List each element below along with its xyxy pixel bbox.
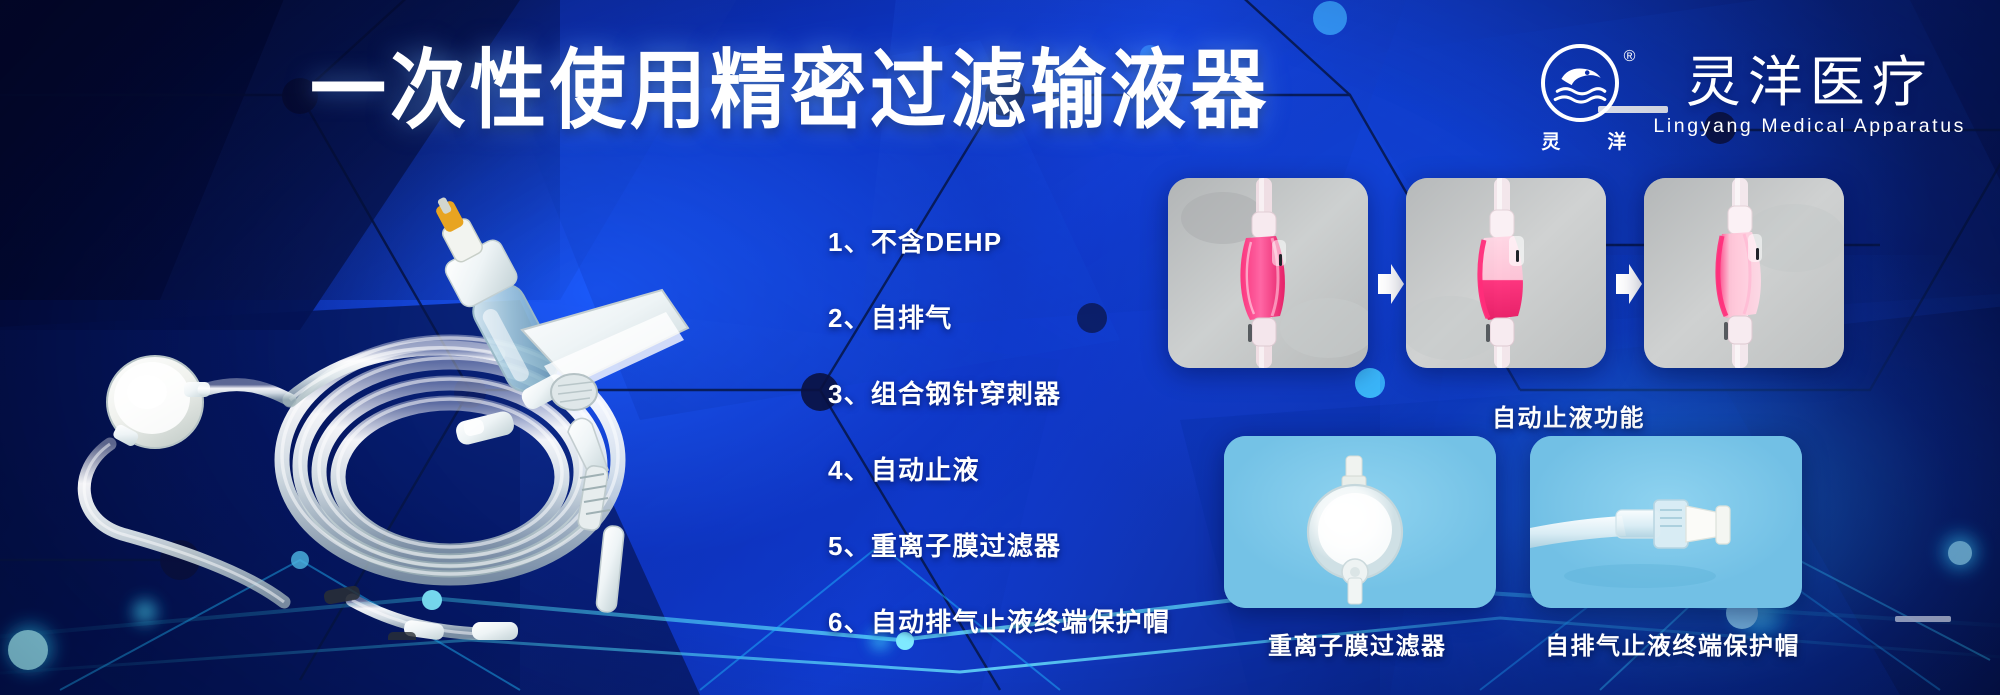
bottom-connector-part [323, 585, 518, 640]
injection-site-part [454, 409, 516, 446]
brand-text: 灵洋医疗 Lingyang Medical Apparatus [1653, 54, 1966, 139]
detail-photo-cap [1530, 436, 1802, 608]
brand-logo: ® 灵 洋 灵洋医疗 Lingyang Medical Apparatus [1541, 44, 1966, 148]
feature-item: 2、自排气 [828, 298, 1198, 335]
logo-mark-label: 灵 洋 [1541, 127, 1627, 154]
round-filter-part [107, 356, 210, 448]
detail-photo-filter [1224, 436, 1496, 608]
logo-mark: ® 灵 洋 [1541, 44, 1633, 148]
hero-product-image [52, 170, 812, 640]
logo-mark-label-left: 灵 [1541, 127, 1561, 154]
feature-item: 1、不含DEHP [828, 222, 1198, 259]
arrow-right-icon [1378, 262, 1404, 306]
wave-fish-icon [1547, 50, 1613, 116]
feature-list: 1、不含DEHP 2、自排气 3、组合钢针穿刺器 4、自动止液 5、重离子膜过滤… [828, 222, 1198, 639]
sequence-photo-2 [1406, 178, 1606, 368]
arrow-right-glyph [1378, 262, 1404, 306]
sequence-caption: 自动止液功能 [1492, 398, 1645, 433]
drip-chamber-full-photo [1168, 178, 1368, 368]
drip-chamber-draining-photo [1406, 178, 1606, 368]
registered-trademark-icon: ® [1624, 48, 1636, 66]
feature-item: 3、组合钢针穿刺器 [828, 374, 1198, 411]
detail-caption-filter: 重离子膜过滤器 [1268, 626, 1447, 661]
arrow-right-icon [1616, 262, 1642, 306]
arrow-right-glyph [1616, 262, 1642, 306]
brand-name-en: Lingyang Medical Apparatus [1653, 115, 1966, 138]
logo-mark-label-right: 洋 [1607, 127, 1627, 154]
detail-caption-cap: 自排气止液终端保护帽 [1545, 626, 1800, 661]
sequence-photo-3 [1644, 178, 1844, 368]
heavy-ion-membrane-filter-photo [1224, 436, 1496, 608]
product-banner: 一次性使用精密过滤输液器 ® 灵 洋 灵洋医疗 Lingyang Medical… [0, 0, 2000, 695]
drip-chamber-stopped-photo [1644, 178, 1844, 368]
self-vent-protective-cap-photo [1530, 436, 1802, 608]
page-title: 一次性使用精密过滤输液器 [310, 48, 1270, 135]
feature-item: 4、自动止液 [828, 450, 1198, 487]
iv-infusion-set-illustration [52, 170, 812, 640]
feature-item: 5、重离子膜过滤器 [828, 526, 1198, 563]
feature-item: 6、自动排气止液终端保护帽 [828, 602, 1198, 639]
brand-name-cn: 灵洋医疗 [1686, 54, 1934, 112]
sequence-photo-1 [1168, 178, 1368, 368]
logo-emblem-icon [1541, 44, 1619, 122]
